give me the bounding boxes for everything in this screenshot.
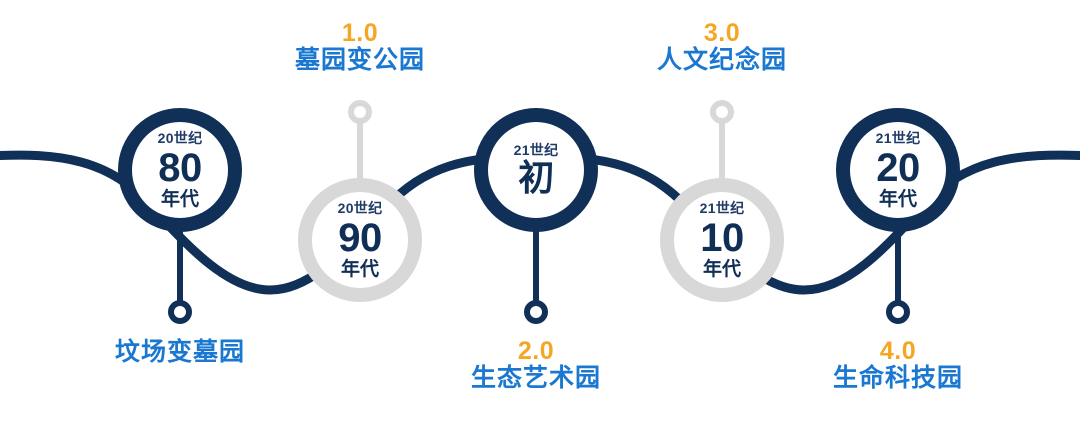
node-1-century: 20世纪 xyxy=(158,131,203,145)
node-5-content: 21世纪 20 年代 xyxy=(876,131,921,209)
stage-label-5[interactable]: 4.0 生命科技园 xyxy=(798,338,998,393)
node-1-suffix: 年代 xyxy=(161,190,199,209)
node-5-suffix: 年代 xyxy=(879,190,917,209)
node-1-content: 20世纪 80 年代 xyxy=(158,131,203,209)
node-1-decade: 80 xyxy=(158,148,202,188)
node-3-century: 21世纪 xyxy=(514,143,559,157)
node-5-decade: 20 xyxy=(876,148,920,188)
stage-label-1[interactable]: 坟场变墓园 xyxy=(80,338,280,367)
pin-5 xyxy=(889,228,907,321)
stage-label-4-number: 3.0 xyxy=(622,20,822,46)
node-5-century: 21世纪 xyxy=(876,131,921,145)
stage-label-5-number: 4.0 xyxy=(798,338,998,364)
stage-label-3-text: 生态艺术园 xyxy=(436,364,636,393)
stage-label-4[interactable]: 3.0 人文纪念园 xyxy=(622,20,822,75)
node-3-content: 21世纪 初 xyxy=(514,143,559,198)
pin-3 xyxy=(527,228,545,321)
timeline-node-5[interactable]: 21世纪 20 年代 xyxy=(836,108,960,232)
timeline-node-3[interactable]: 21世纪 初 xyxy=(474,108,598,232)
stage-label-3[interactable]: 2.0 生态艺术园 xyxy=(436,338,636,393)
stage-label-3-number: 2.0 xyxy=(436,338,636,364)
stage-label-4-text: 人文纪念园 xyxy=(622,46,822,75)
stage-label-2[interactable]: 1.0 墓园变公园 xyxy=(260,20,460,75)
stage-label-2-number: 1.0 xyxy=(260,20,460,46)
pin-1 xyxy=(171,228,189,321)
stage-label-5-text: 生命科技园 xyxy=(798,364,998,393)
node-3-decade: 初 xyxy=(518,160,554,196)
stage-label-2-text: 墓园变公园 xyxy=(260,46,460,75)
timeline-node-1[interactable]: 20世纪 80 年代 xyxy=(118,108,242,232)
stage-label-1-text: 坟场变墓园 xyxy=(80,338,280,367)
infographic-canvas: 20世纪 90 年代 21世纪 10 年代 20世纪 80 年代 xyxy=(0,0,1080,422)
